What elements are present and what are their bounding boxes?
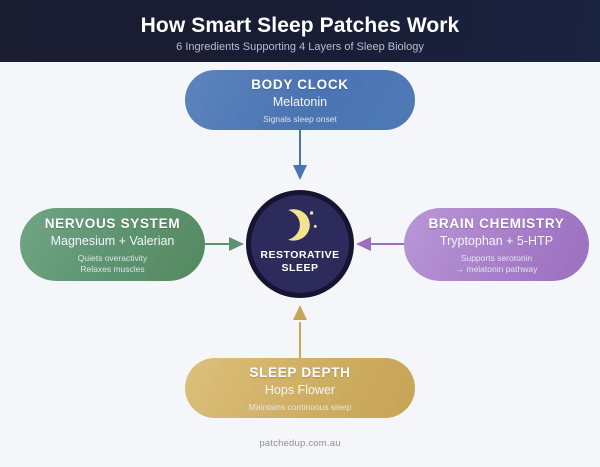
node-body-clock-detail-1: Signals sleep onset [263, 114, 337, 125]
node-brain-chemistry-ingredient: Tryptophan + 5-HTP [440, 233, 553, 250]
connector-line-body-clock [299, 130, 301, 167]
arrow-head-right-icon [229, 237, 244, 251]
arrow-head-down-icon [293, 165, 307, 180]
arrow-head-up-icon [293, 305, 307, 320]
page-title: How Smart Sleep Patches Work [0, 13, 600, 38]
node-body-clock-ingredient: Melatonin [273, 94, 327, 111]
crescent-moon-icon [281, 207, 319, 243]
node-sleep-depth[interactable]: SLEEP DEPTH Hops Flower Maintains contin… [185, 358, 415, 418]
node-nervous-system-title: NERVOUS SYSTEM [45, 215, 181, 232]
footer-website: patchedup.com.au [0, 438, 600, 449]
node-brain-chemistry-detail-1: Supports serotonin [461, 253, 532, 264]
node-body-clock-title: BODY CLOCK [251, 76, 349, 93]
node-nervous-system-detail-1: Quiets overactivity [78, 253, 147, 264]
node-nervous-system[interactable]: NERVOUS SYSTEM Magnesium + Valerian Quie… [20, 208, 205, 281]
page-subtitle: 6 Ingredients Supporting 4 Layers of Sle… [0, 40, 600, 54]
node-nervous-system-detail-2: Relaxes muscles [80, 264, 144, 275]
node-sleep-depth-ingredient: Hops Flower [265, 382, 335, 399]
connector-line-brain-chemistry [371, 243, 404, 245]
node-nervous-system-ingredient: Magnesium + Valerian [51, 233, 175, 250]
center-node-label: RESTORATIVE SLEEP [260, 249, 339, 275]
node-brain-chemistry[interactable]: BRAIN CHEMISTRY Tryptophan + 5-HTP Suppo… [404, 208, 589, 281]
header-banner: How Smart Sleep Patches Work 6 Ingredien… [0, 0, 600, 62]
node-body-clock[interactable]: BODY CLOCK Melatonin Signals sleep onset [185, 70, 415, 130]
node-brain-chemistry-title: BRAIN CHEMISTRY [428, 215, 564, 232]
center-node-restorative-sleep[interactable]: RESTORATIVE SLEEP [246, 190, 354, 298]
center-node-label-line2: SLEEP [282, 262, 319, 274]
node-sleep-depth-detail-1: Maintains continuous sleep [249, 402, 352, 413]
infographic-canvas: How Smart Sleep Patches Work 6 Ingredien… [0, 0, 600, 467]
node-sleep-depth-title: SLEEP DEPTH [249, 364, 350, 381]
arrow-head-left-icon [356, 237, 371, 251]
connector-line-sleep-depth [299, 322, 301, 358]
node-brain-chemistry-detail-2: → melatonin pathway [456, 264, 538, 275]
center-node-label-line1: RESTORATIVE [260, 249, 339, 261]
